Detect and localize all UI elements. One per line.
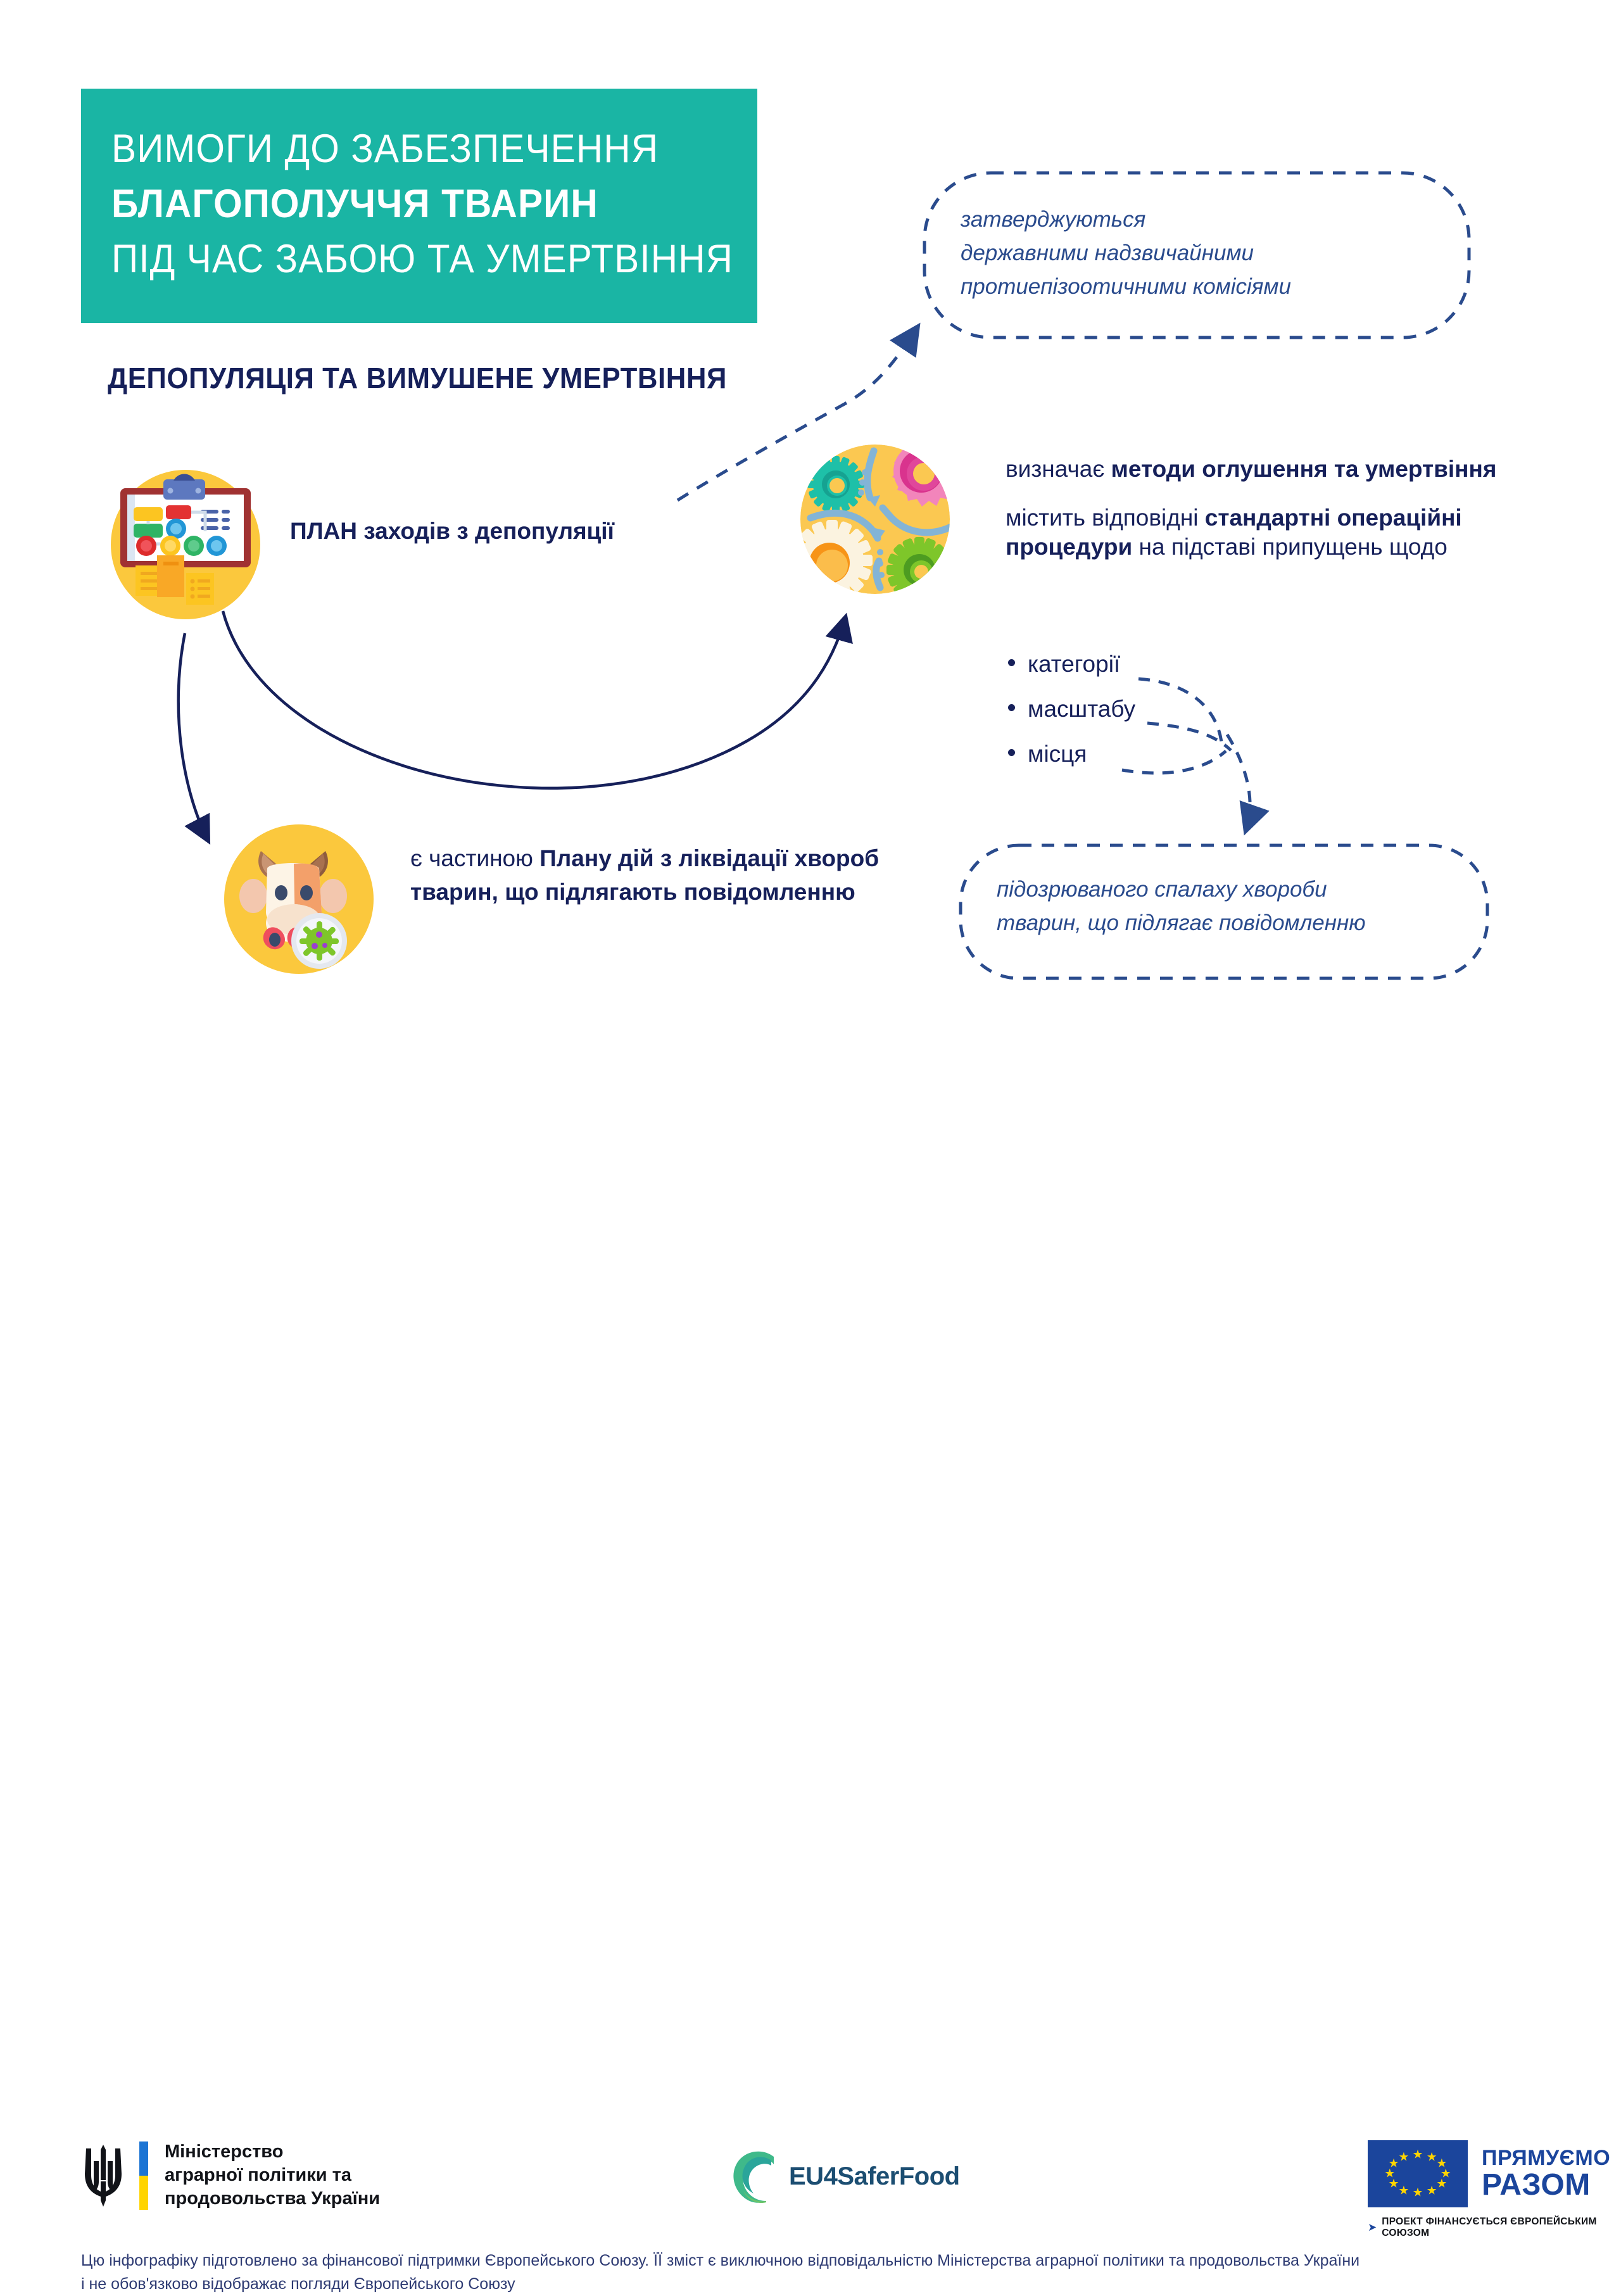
callout-top-line-3: протиепізоотичними комісіями (961, 270, 1433, 303)
dashed-arrow-to-bottom-callout (1227, 735, 1250, 829)
procedures-tail: на підставі припущень щодо (1132, 534, 1448, 560)
bullet-label: місця (1028, 742, 1087, 766)
bullet-item: категорії (1006, 652, 1135, 676)
callout-bottom: підозрюваного спалаху хвороби тварин, що… (957, 842, 1491, 981)
eu-funding-note: ➤ ПРОЕКТ ФІНАНСУЄТЬСЯ ЄВРОПЕЙСЬКИМ СОЮЗО… (1368, 2216, 1621, 2239)
eu-flag-icon: ★ ★ ★ ★ ★ ★ ★ ★ ★ ★ ★ ★ (1368, 2140, 1468, 2207)
bullet-label: категорії (1028, 652, 1120, 676)
cow-label: є частиною Плану дій з ліквідації хвороб… (410, 842, 911, 909)
callout-bottom-line-2: тварин, що підлягає повідомленню (997, 906, 1451, 940)
eu-funding-logo: ★ ★ ★ ★ ★ ★ ★ ★ ★ ★ ★ ★ ПРЯМУЄМО РАЗОМ (1368, 2140, 1621, 2239)
procedures-line: містить відповідні стандартні операційні… (1006, 503, 1512, 562)
ukraine-flag-bar-icon (139, 2141, 148, 2210)
eu4saferfood-mark-icon (729, 2145, 785, 2207)
ministry-logo: Міністерство аграрної політики та продов… (84, 2140, 380, 2211)
title-line-3: ПІД ЧАС ЗАБОЮ ТА УМЕРТВІННЯ (111, 232, 712, 287)
methods-strong: методи оглушення та умертвіння (1111, 456, 1497, 482)
arrow-plan-to-gears (223, 611, 846, 788)
dashed-bullet-3 (1122, 751, 1226, 773)
eu-funding-note-text: ПРОЕКТ ФІНАНСУЄТЬСЯ ЄВРОПЕЙСЬКИМ СОЮЗОМ (1382, 2216, 1621, 2239)
callout-top: затверджуються державними надзвичайними … (921, 170, 1472, 341)
dashed-bullet-2 (1147, 723, 1231, 750)
bullet-dot-icon (1008, 749, 1015, 756)
title-line-2: БЛАГОПОЛУЧЧЯ ТВАРИН (111, 177, 712, 232)
eu4saferfood-wordmark: EU4SaferFood (789, 2162, 960, 2191)
cow-label-prefix: є частиною (410, 845, 539, 871)
bullet-item: місця (1006, 742, 1135, 766)
callout-top-line-1: затверджуються (961, 203, 1433, 236)
arrow-plan-to-cow (179, 633, 209, 842)
ministry-line-2: аграрної політики та (165, 2164, 380, 2187)
ministry-line-3: продовольства України (165, 2187, 380, 2211)
bullet-dot-icon (1008, 659, 1015, 666)
cow-virus-icon (223, 823, 375, 975)
callout-top-text: затверджуються державними надзвичайними … (961, 203, 1433, 304)
plan-label: ПЛАН заходів з депопуляції (290, 518, 614, 545)
methods-prefix: визначає (1006, 456, 1111, 482)
disclaimer-line-2: і не обов'язково відображає погляди Євро… (81, 2273, 1544, 2296)
arrow-left-icon: ➤ (1368, 2221, 1377, 2234)
title-banner: ВИМОГИ ДО ЗАБЕЗПЕЧЕННЯ БЛАГОПОЛУЧЧЯ ТВАР… (81, 89, 757, 323)
methods-text-block: визначає методи оглушення та умертвіння … (1006, 455, 1512, 562)
eu4saferfood-logo: EU4SaferFood (729, 2145, 960, 2207)
disclaimer: Цю інфографіку підготовлено за фінансово… (81, 2249, 1544, 2296)
bullet-dot-icon (1008, 704, 1015, 711)
callout-bottom-text: підозрюваного спалаху хвороби тварин, що… (997, 873, 1451, 940)
methods-line: визначає методи оглушення та умертвіння (1006, 455, 1512, 484)
bullet-label: масштабу (1028, 697, 1135, 721)
gears-icon (799, 443, 951, 595)
bullet-item: масштабу (1006, 697, 1135, 721)
clipboard-plan-icon (106, 465, 265, 624)
callout-top-line-2: державними надзвичайними (961, 236, 1433, 270)
eu-wordmark: ПРЯМУЄМО РАЗОМ (1482, 2147, 1610, 2200)
ukraine-trident-icon (84, 2142, 123, 2209)
callout-bottom-line-1: підозрюваного спалаху хвороби (997, 873, 1451, 906)
procedures-prefix: містить відповідні (1006, 505, 1205, 531)
ministry-line-1: Міністерство (165, 2140, 380, 2164)
assumption-bullets: категорії масштабу місця (1006, 652, 1135, 787)
infographic-canvas: ВИМОГИ ДО ЗАБЕЗПЕЧЕННЯ БЛАГОПОЛУЧЧЯ ТВАР… (0, 0, 1621, 1276)
eu-word-2: РАЗОМ (1482, 2170, 1610, 2200)
title-line-1: ВИМОГИ ДО ЗАБЕЗПЕЧЕННЯ (111, 122, 712, 177)
section-subtitle: ДЕПОПУЛЯЦІЯ ТА ВИМУШЕНЕ УМЕРТВІННЯ (108, 361, 727, 395)
disclaimer-line-1: Цю інфографіку підготовлено за фінансово… (81, 2249, 1544, 2273)
dashed-bullet-1 (1138, 679, 1222, 747)
ministry-name: Міністерство аграрної політики та продов… (165, 2140, 380, 2211)
eu-logo-row: ★ ★ ★ ★ ★ ★ ★ ★ ★ ★ ★ ★ ПРЯМУЄМО РАЗОМ (1368, 2140, 1621, 2207)
footer: Міністерство аграрної політики та продов… (0, 1064, 1621, 1276)
eu-word-1: ПРЯМУЄМО (1482, 2147, 1610, 2169)
